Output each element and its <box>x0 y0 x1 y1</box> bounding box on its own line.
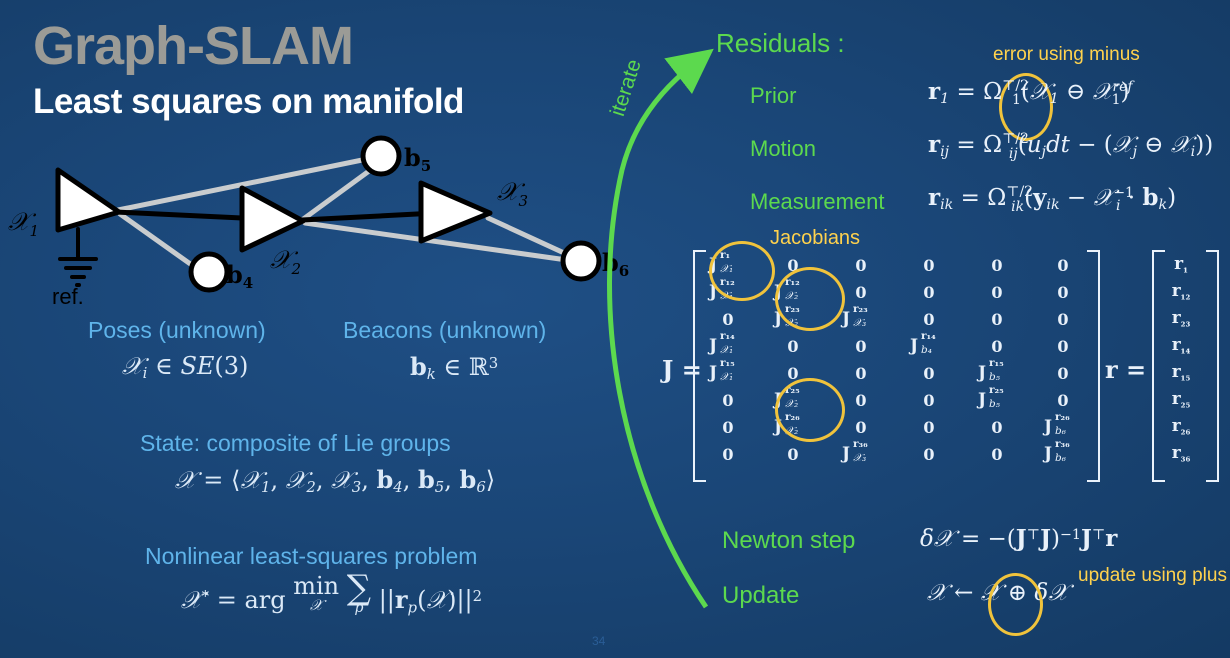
poses-heading: Poses (unknown) <box>88 317 266 344</box>
jacobian-zero: 0 <box>895 414 963 441</box>
graph-label-pose-1: 𝒳1 <box>8 207 39 240</box>
beacons-heading: Beacons (unknown) <box>343 317 546 344</box>
jacobian-zero: 0 <box>963 333 1031 360</box>
residual-label-measurement: Measurement <box>750 189 885 215</box>
jacobian-row: 0Jr₂₅𝒳₂00Jr₂₅b₅0 <box>697 387 1095 414</box>
jacobian-highlight-3 <box>775 378 845 442</box>
residual-label-motion: Motion <box>750 136 816 162</box>
graph-label-beacon-5: b5 <box>404 143 431 175</box>
residuals-heading: Residuals : <box>716 28 845 59</box>
jacobian-zero: 0 <box>759 441 827 468</box>
graph-label-pose-3: 𝒳3 <box>497 177 528 210</box>
jacobian-zero: 0 <box>963 441 1031 468</box>
jacobian-zero: 0 <box>895 387 963 414</box>
factor-graph-diagram: 𝒳1 𝒳2 𝒳3 b4 b5 b6 ref. <box>0 128 640 313</box>
jacobian-entry: Jr₃₆𝒳₃ <box>827 441 895 468</box>
beacons-formula: bk ∈ ℝ3 <box>410 352 498 383</box>
jacobian-zero: 0 <box>895 279 963 306</box>
jacobian-entry: Jr₃₆b₆ <box>1031 441 1095 468</box>
jacobian-zero: 0 <box>1031 360 1095 387</box>
jacobian-zero: 0 <box>895 441 963 468</box>
jacobian-zero: 0 <box>895 360 963 387</box>
jacobian-entry: Jr₂₅b₅ <box>963 387 1031 414</box>
error-annotation: error using minus <box>993 44 1140 66</box>
poses-formula: 𝒳i ∈ SE(3) <box>122 352 248 382</box>
jacobian-zero: 0 <box>1031 252 1095 279</box>
jacobian-row: 0Jr₂₆𝒳₂000Jr₂₆b₆ <box>697 414 1095 441</box>
problem-heading: Nonlinear least-squares problem <box>145 543 477 570</box>
jacobians-label: Jacobians <box>770 227 860 250</box>
page-number: 34 <box>592 634 605 648</box>
page-title: Graph-SLAM <box>33 18 353 75</box>
jacobian-zero: 0 <box>697 414 759 441</box>
jacobian-zero: 0 <box>1031 279 1095 306</box>
residual-vector: r₁r₁₂r₂₃r₁₄r₁₅r₂₅r₂₆r₃₆ <box>1158 252 1204 468</box>
jacobian-zero: 0 <box>895 252 963 279</box>
graph-label-beacon-4: b4 <box>226 260 253 292</box>
jacobian-zero: 0 <box>963 279 1031 306</box>
jacobian-zero: 0 <box>963 414 1031 441</box>
jacobian-zero: 0 <box>697 441 759 468</box>
jacobian-zero: 0 <box>759 333 827 360</box>
jacobian-row: Jr₁₅𝒳₁000Jr₁₅b₅0 <box>697 360 1095 387</box>
graph-label-reference: ref. <box>52 284 84 309</box>
jacobian-row: 0Jr₂₃𝒳₂Jr₂₃𝒳₃000 <box>697 306 1095 333</box>
problem-formula: 𝒳* = arg min 𝒳 ∑ p ||rp(𝒳)||2 <box>181 575 482 616</box>
jacobian-entry: Jr₁₅b₅ <box>963 360 1031 387</box>
jacobian-zero: 0 <box>895 306 963 333</box>
jacobian-row: Jr₁₄𝒳₁00Jr₁₄b₄00 <box>697 333 1095 360</box>
jacobian-entry: Jr₁₄b₄ <box>895 333 963 360</box>
update-highlight-ellipse <box>988 573 1043 636</box>
residual-formula-prior: r1 = Ω⊤/21(𝒳1 ⊖ 𝒳ref1) <box>928 78 1130 108</box>
jacobian-zero: 0 <box>1031 387 1095 414</box>
page-subtitle: Least squares on manifold <box>33 82 464 122</box>
jacobian-zero: 0 <box>827 333 895 360</box>
r-equals-label: r = <box>1105 355 1146 384</box>
update-label: Update <box>722 582 799 610</box>
jacobian-zero: 0 <box>827 360 895 387</box>
residual-formula-measurement: rik = Ω⊤/2ik(yik − 𝒳−1i · bk) <box>928 184 1176 215</box>
update-annotation: update using plus <box>1078 565 1227 587</box>
jacobian-zero: 0 <box>963 252 1031 279</box>
state-formula: 𝒳 = ⟨𝒳1, 𝒳2, 𝒳3, b4, b5, b6⟩ <box>175 465 495 496</box>
state-heading: State: composite of Lie groups <box>140 430 451 457</box>
jacobian-zero: 0 <box>1031 306 1095 333</box>
residual-label-prior: Prior <box>750 83 796 109</box>
jacobian-zero: 0 <box>697 306 759 333</box>
residual-formula-motion: rij = Ω⊤/2ij(ujdt − (𝒳j ⊖ 𝒳i)) <box>928 131 1213 162</box>
jacobian-entry: Jr₂₆b₆ <box>1031 414 1095 441</box>
jacobian-row: 00Jr₃₆𝒳₃00Jr₃₆b₆ <box>697 441 1095 468</box>
jacobian-entry: Jr₁₄𝒳₁ <box>697 333 759 360</box>
slide-canvas: Graph-SLAM Least squares on manifold <box>0 0 1230 658</box>
jacobian-zero: 0 <box>827 252 895 279</box>
jacobian-highlight-1 <box>709 241 775 301</box>
jacobian-entry: Jr₁₅𝒳₁ <box>697 360 759 387</box>
graph-label-pose-2: 𝒳2 <box>270 245 301 278</box>
jacobian-zero: 0 <box>1031 333 1095 360</box>
newton-step-formula: δ𝒳 = −(J⊤J)−1J⊤r <box>920 525 1117 552</box>
jacobian-zero: 0 <box>963 306 1031 333</box>
jacobian-zero: 0 <box>697 387 759 414</box>
jacobian-highlight-2 <box>775 267 845 331</box>
newton-step-label: Newton step <box>722 527 855 555</box>
